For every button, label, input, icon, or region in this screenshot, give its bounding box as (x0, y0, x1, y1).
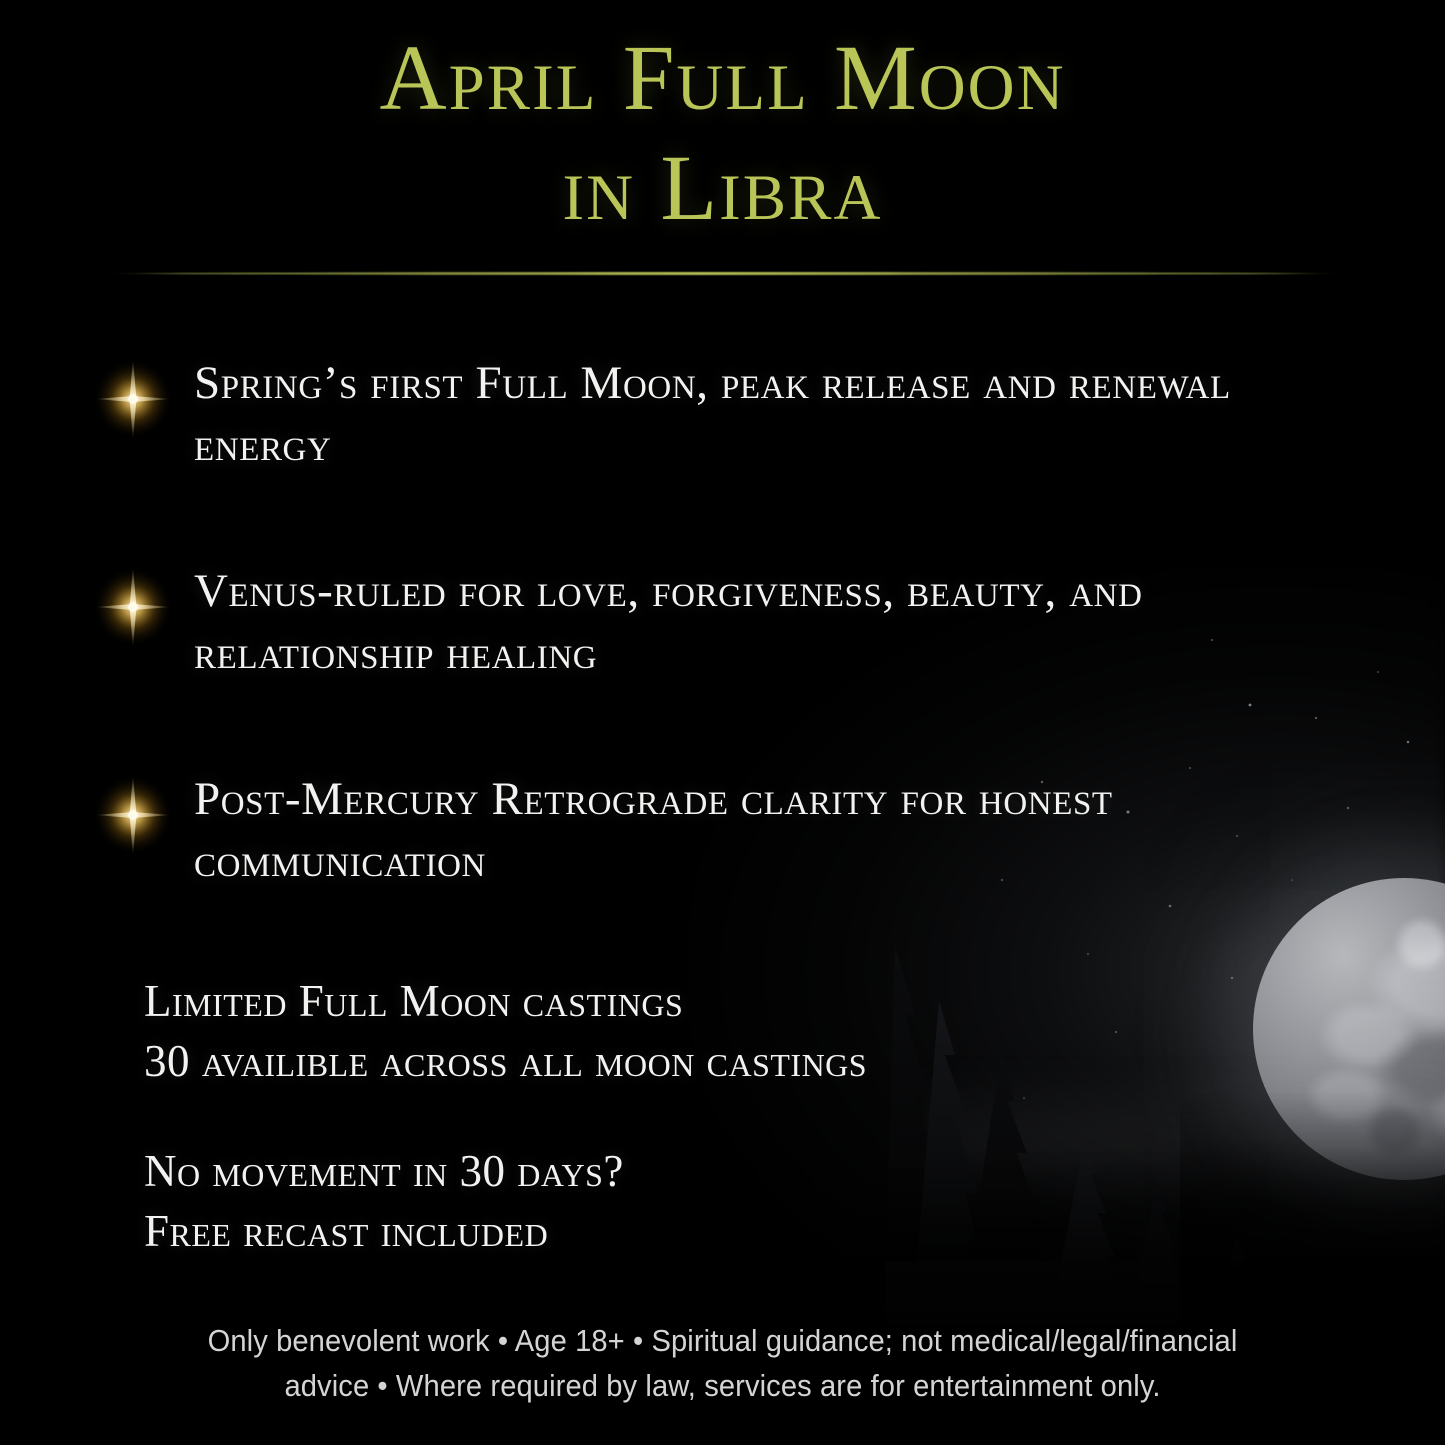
disclaimer-line-1: Only benevolent work • Age 18+ • Spiritu… (43, 1319, 1401, 1364)
disclaimer: Only benevolent work • Age 18+ • Spiritu… (43, 1319, 1401, 1409)
list-item-label: Spring’s first Full Moon, peak release a… (194, 357, 1231, 471)
bullet-list: Spring’s first Full Moon, peak release a… (92, 352, 1372, 892)
list-item-label: Post-Mercury Retrograde clarity for hone… (194, 773, 1113, 887)
offer-availability-line-2: 30 availible across all moon castings (144, 1032, 1194, 1092)
offer-availability: Limited Full Moon castings 30 availible … (144, 972, 1194, 1092)
four-point-star-icon (92, 358, 174, 440)
list-item: Venus-ruled for love, forgiveness, beaut… (92, 560, 1372, 684)
title-line-2: in Libra (0, 134, 1445, 244)
offer-availability-line-1: Limited Full Moon castings (144, 972, 1194, 1032)
list-item-label: Venus-ruled for love, forgiveness, beaut… (194, 565, 1143, 679)
list-item: Post-Mercury Retrograde clarity for hone… (92, 768, 1372, 892)
four-point-star-icon (92, 566, 174, 648)
four-point-star-icon (92, 774, 174, 856)
page-title: April Full Moon in Libra (0, 24, 1445, 243)
title-line-1: April Full Moon (0, 24, 1445, 134)
title-divider (108, 272, 1340, 275)
offer-guarantee-line-2: Free recast included (144, 1202, 1194, 1262)
moon-bottom-fade (1180, 1090, 1445, 1350)
offer-guarantee: No movement in 30 days? Free recast incl… (144, 1142, 1194, 1262)
offer-details: Limited Full Moon castings 30 availible … (144, 972, 1194, 1261)
poster-canvas: April Full Moon in Libra (0, 0, 1445, 1445)
offer-guarantee-line-1: No movement in 30 days? (144, 1142, 1194, 1202)
disclaimer-line-2: advice • Where required by law, services… (43, 1364, 1401, 1409)
list-item: Spring’s first Full Moon, peak release a… (92, 352, 1372, 476)
full-moon-graphic (1253, 878, 1445, 1180)
